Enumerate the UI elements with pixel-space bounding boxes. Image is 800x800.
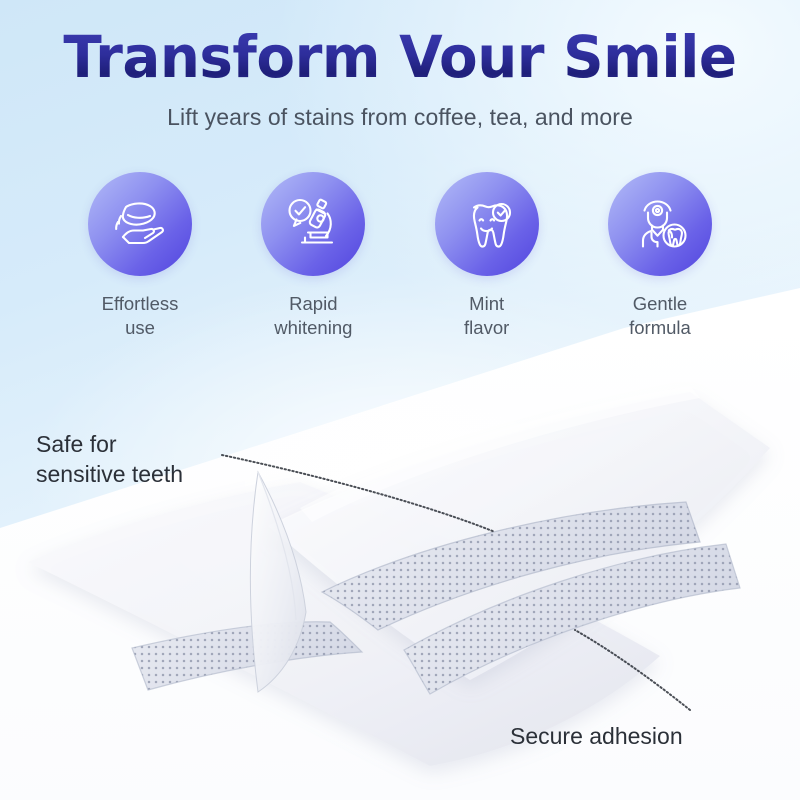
page-subtitle: Lift years of stains from coffee, tea, a…	[0, 104, 800, 131]
hand-holding-strip-icon	[109, 193, 171, 255]
feature-item-rapid-whitening[interactable]: Rapid whitening	[229, 172, 397, 339]
dentist-tooth-icon	[629, 193, 691, 255]
callout-secure-adhesion: Secure adhesion	[510, 722, 683, 752]
callout-safe-for-sensitive-teeth: Safe for sensitive teeth	[36, 430, 183, 490]
feature-icon-badge	[435, 172, 539, 276]
feature-item-gentle-formula[interactable]: Gentle formula	[576, 172, 744, 339]
feature-item-effortless-use[interactable]: Effortless use	[56, 172, 224, 339]
feature-icon-badge	[261, 172, 365, 276]
feature-item-mint-flavor[interactable]: Mint flavor	[403, 172, 571, 339]
microscope-check-icon	[282, 193, 344, 255]
feature-list: Effortless use	[56, 172, 744, 339]
page-title: Transform Vour Smile	[12, 28, 788, 86]
product-banner: Transform Vour Smile Lift years of stain…	[0, 0, 800, 800]
feature-icon-badge	[88, 172, 192, 276]
smiling-tooth-check-icon	[456, 193, 518, 255]
feature-icon-badge	[608, 172, 712, 276]
